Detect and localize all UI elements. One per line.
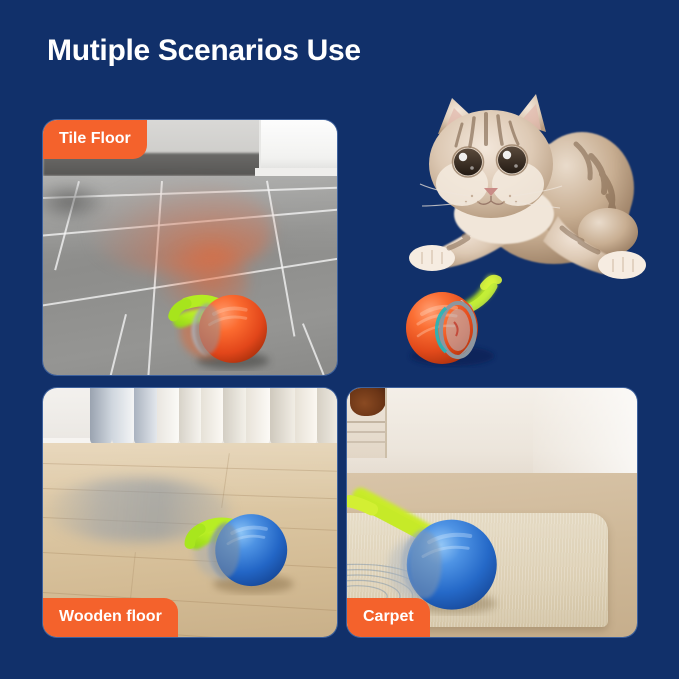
scenario-panel-carpet[interactable]: Carpet xyxy=(347,388,637,637)
wall-light-reflection xyxy=(533,388,637,478)
foreground-object xyxy=(347,388,387,458)
hero-toy-ball xyxy=(400,250,550,370)
curtain-fold xyxy=(201,388,223,445)
curtain-fold xyxy=(246,388,271,445)
curtain-fold xyxy=(134,388,156,445)
badge-tile-floor: Tile Floor xyxy=(43,120,147,159)
curtain-fold xyxy=(112,388,134,445)
marketing-banner: Mutiple Scenarios Use xyxy=(0,0,679,679)
badge-wooden-floor: Wooden floor xyxy=(43,598,178,637)
tile-floor-scene: Tile Floor xyxy=(43,120,337,375)
curtains xyxy=(90,388,337,445)
badge-carpet: Carpet xyxy=(347,598,430,637)
wooden-object xyxy=(350,388,386,416)
page-title: Mutiple Scenarios Use xyxy=(47,30,361,72)
scenario-panel-tile[interactable]: Tile Floor xyxy=(43,120,337,375)
curtain-fold xyxy=(157,388,179,445)
toy-ball-orange xyxy=(131,250,301,375)
toy-ball-blue xyxy=(139,476,319,603)
curtain-fold xyxy=(179,388,201,445)
white-cabinet xyxy=(259,120,337,174)
curtain-fold xyxy=(295,388,317,445)
curtain-fold xyxy=(270,388,295,445)
carpet-scene: Carpet xyxy=(347,388,637,637)
curtain-fold xyxy=(223,388,245,445)
curtain-fold xyxy=(317,388,337,445)
hero-illustration xyxy=(386,92,666,367)
wooden-floor-scene: Wooden floor xyxy=(43,388,337,637)
scenario-panel-wood[interactable]: Wooden floor xyxy=(43,388,337,637)
curtain-fold xyxy=(90,388,112,445)
